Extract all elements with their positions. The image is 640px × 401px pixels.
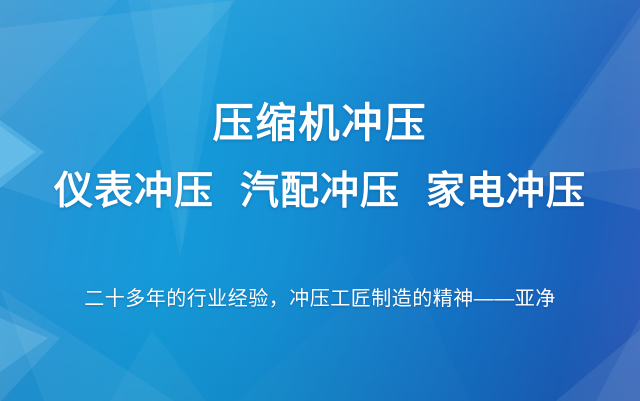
headline-secondary-segment-2: 汽配冲压 bbox=[240, 170, 400, 214]
headline-primary: 压缩机冲压 bbox=[213, 100, 428, 146]
banner-content: 压缩机冲压 仪表冲压汽配冲压家电冲压 二十多年的行业经验，冲压工匠制造的精神——… bbox=[0, 0, 640, 401]
headline-secondary: 仪表冲压汽配冲压家电冲压 bbox=[54, 170, 586, 214]
headline-secondary-segment-1: 仪表冲压 bbox=[54, 170, 214, 214]
headline-secondary-segment-3: 家电冲压 bbox=[426, 170, 586, 214]
tagline: 二十多年的行业经验，冲压工匠制造的精神——亚净 bbox=[84, 286, 556, 312]
promo-banner: 压缩机冲压 仪表冲压汽配冲压家电冲压 二十多年的行业经验，冲压工匠制造的精神——… bbox=[0, 0, 640, 401]
